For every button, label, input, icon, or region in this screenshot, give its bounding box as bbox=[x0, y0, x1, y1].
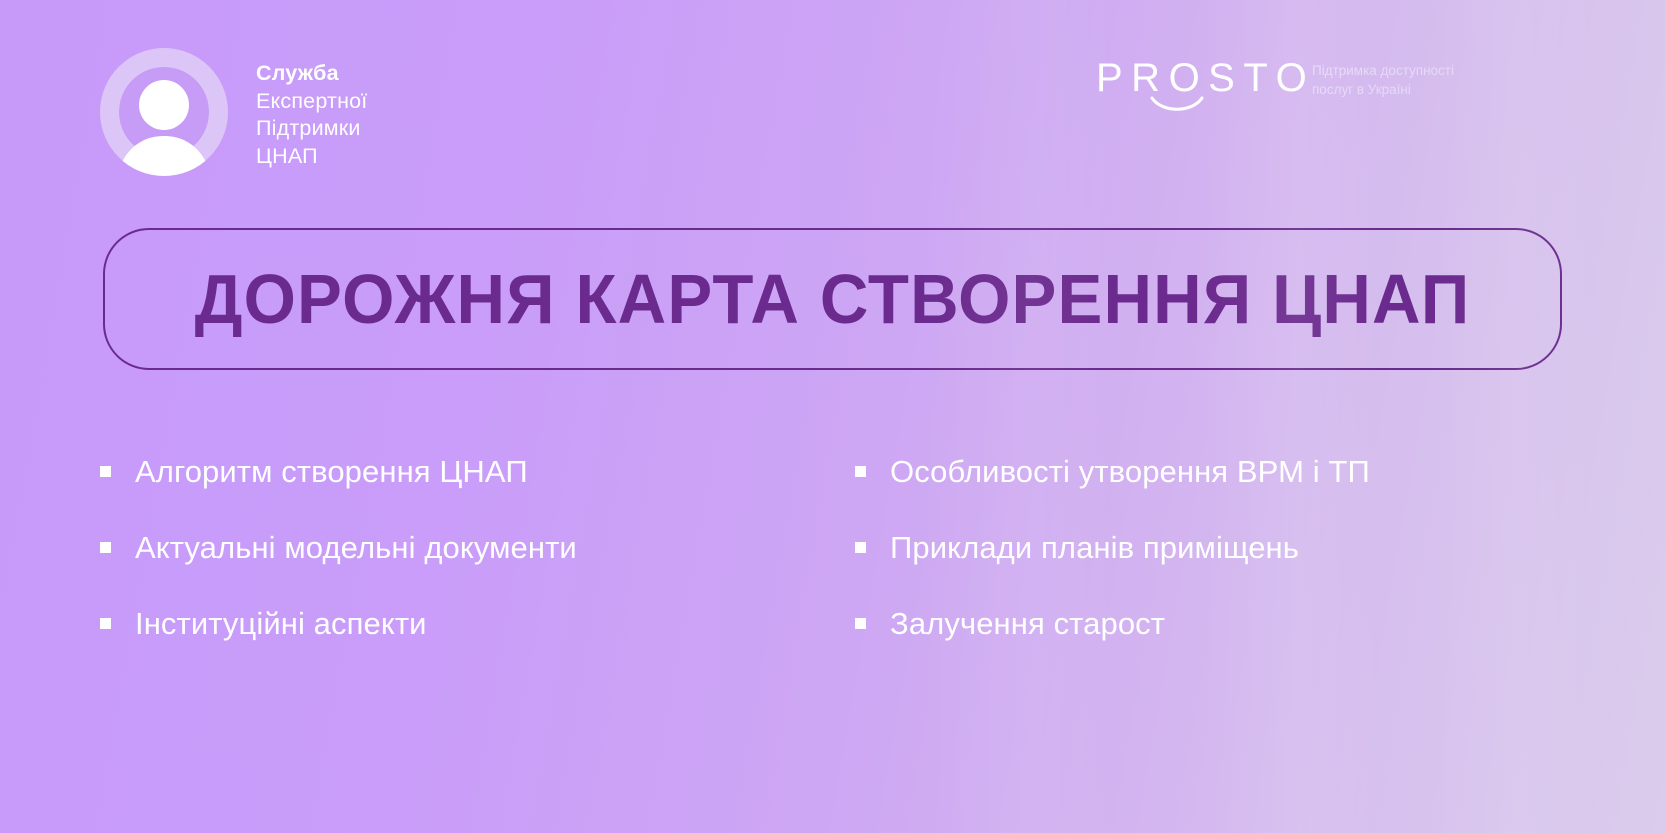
list-item-label: Інституційні аспекти bbox=[135, 607, 427, 641]
list-item-label: Особливості утворення ВРМ і ТП bbox=[890, 455, 1370, 489]
list-item-label: Приклади планів приміщень bbox=[890, 531, 1299, 565]
org-name-line-1: Служба bbox=[256, 60, 367, 88]
list-item-label: Алгоритм створення ЦНАП bbox=[135, 455, 528, 489]
title-banner: ДОРОЖНЯ КАРТА СТВОРЕННЯ ЦНАП bbox=[103, 228, 1562, 370]
prosto-tagline-line-1: Підтримка доступності bbox=[1312, 62, 1454, 81]
org-name-line-2: Експертної bbox=[256, 88, 367, 116]
bullet-square-icon bbox=[100, 466, 111, 477]
bullet-square-icon bbox=[855, 466, 866, 477]
bullet-square-icon bbox=[100, 618, 111, 629]
prosto-logo: PROSTO bbox=[1096, 58, 1282, 114]
bullet-square-icon bbox=[100, 542, 111, 553]
brand-header: Служба Експертної Підтримки ЦНАП bbox=[100, 48, 367, 176]
list-item: Приклади планів приміщень bbox=[855, 531, 1565, 607]
page-title: ДОРОЖНЯ КАРТА СТВОРЕННЯ ЦНАП bbox=[195, 264, 1471, 334]
org-name-line-3: Підтримки bbox=[256, 115, 367, 143]
list-item: Інституційні аспекти bbox=[100, 607, 810, 683]
list-item: Особливості утворення ВРМ і ТП bbox=[855, 455, 1565, 531]
list-item: Залучення старост bbox=[855, 607, 1565, 683]
prosto-wordmark: PROSTO bbox=[1096, 58, 1282, 98]
smile-arc-icon bbox=[1150, 96, 1204, 114]
list-item: Алгоритм створення ЦНАП bbox=[100, 455, 810, 531]
topics-column-left: Алгоритм створення ЦНАП Актуальні модель… bbox=[100, 455, 810, 683]
bullet-square-icon bbox=[855, 542, 866, 553]
list-item-label: Актуальні модельні документи bbox=[135, 531, 577, 565]
person-avatar-icon bbox=[100, 48, 228, 176]
organisation-name: Служба Експертної Підтримки ЦНАП bbox=[256, 60, 367, 171]
prosto-tagline: Підтримка доступності послуг в Україні bbox=[1312, 62, 1454, 99]
slide-root: Служба Експертної Підтримки ЦНАП PROSTO … bbox=[0, 0, 1665, 833]
topics-column-right: Особливості утворення ВРМ і ТП Приклади … bbox=[810, 455, 1565, 683]
bullet-square-icon bbox=[855, 618, 866, 629]
list-item: Актуальні модельні документи bbox=[100, 531, 810, 607]
org-name-line-4: ЦНАП bbox=[256, 143, 367, 171]
prosto-lockup: PROSTO Підтримка доступності послуг в Ук… bbox=[1096, 58, 1454, 114]
list-item-label: Залучення старост bbox=[890, 607, 1165, 641]
prosto-tagline-line-2: послуг в Україні bbox=[1312, 81, 1454, 100]
topics-columns: Алгоритм створення ЦНАП Актуальні модель… bbox=[100, 455, 1565, 683]
